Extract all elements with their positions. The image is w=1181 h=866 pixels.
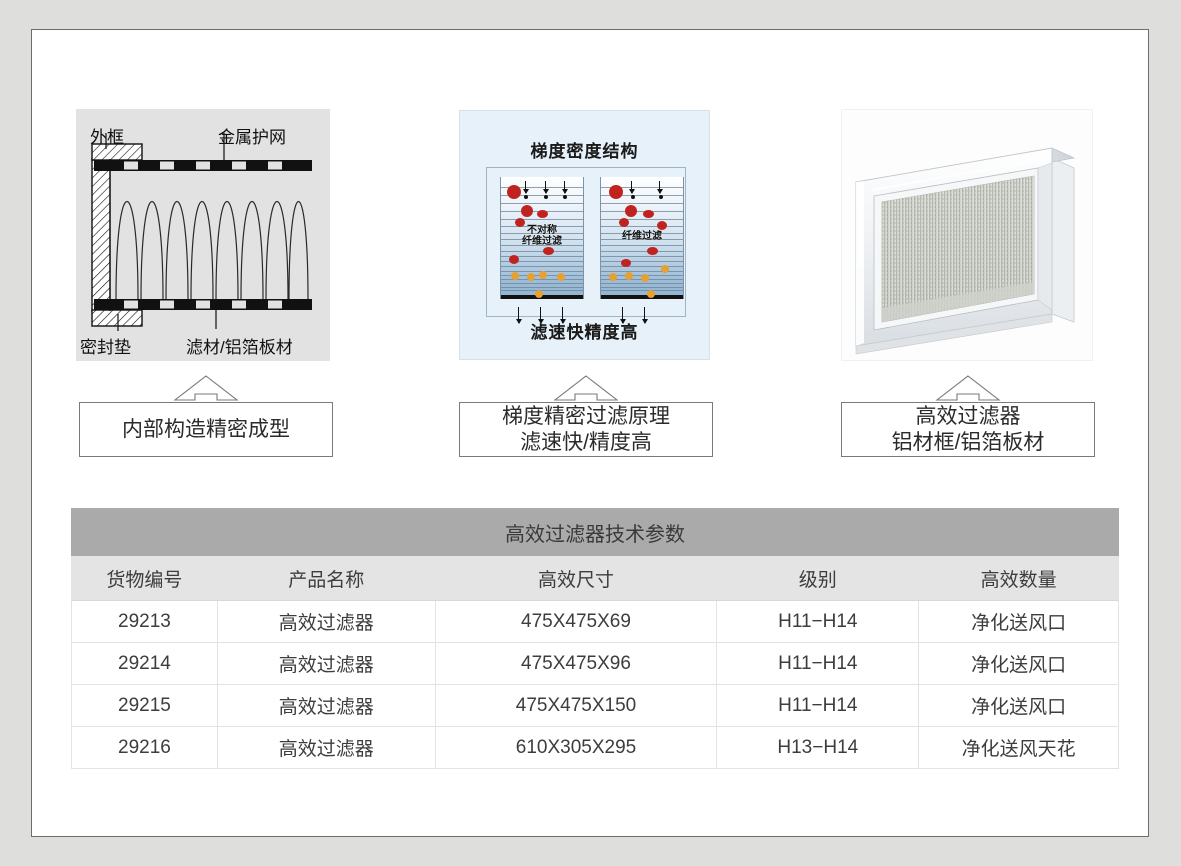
particle-dot [619,218,629,227]
cell-size: 475X475X150 [435,685,717,727]
table-row: 29214 高效过滤器 475X475X96 H11−H14 净化送风口 [72,643,1119,685]
gradient-density-diagram: 梯度密度结构 [459,110,710,360]
cell-code: 29214 [72,643,218,685]
cutaway-diagram: 外框 金属护网 密封垫 滤材/铝箔板材 [76,109,330,361]
cell-product: 高效过滤器 [217,601,435,643]
flow-arrow-icon [659,181,660,193]
caption-text: 高效过滤器 铝材框/铝箔板材 [892,404,1045,456]
cell-size: 475X475X96 [435,643,717,685]
particle-dot [521,205,533,217]
cell-grade: H11−H14 [717,601,919,643]
up-arrow-icon [173,374,239,402]
table-row: 29215 高效过滤器 475X475X150 H11−H14 净化送风口 [72,685,1119,727]
cell-base [601,295,683,299]
particle-dot [524,195,528,199]
particle-dot [609,273,617,281]
particle-dot [609,185,623,199]
cell-quantity: 净化送风口 [919,685,1119,727]
filter-cell-right: 纤维过滤 [600,177,684,299]
page-frame: 外框 金属护网 密封垫 滤材/铝箔板材 梯度密度结构 [0,0,1181,866]
particle-dot [643,210,654,218]
particle-dot [563,195,567,199]
particle-dot [557,273,565,281]
cell-grade: H11−H14 [717,643,919,685]
particle-dot [661,265,669,273]
cell-code: 29216 [72,727,218,769]
cell-code: 29213 [72,601,218,643]
gradient-footer: 滤速快精度高 [460,318,709,343]
cell-size: 475X475X69 [435,601,717,643]
table-row: 29216 高效过滤器 610X305X295 H13−H14 净化送风天花 [72,727,1119,769]
filter-cell-left: 不对称纤维过滤 [500,177,584,299]
table-header-row: 货物编号 产品名称 高效尺寸 级别 高效数量 [72,556,1119,601]
caption-box-material: 高效过滤器 铝材框/铝箔板材 [841,402,1095,457]
product-photo [841,109,1093,361]
up-arrow-icon [553,374,619,402]
panels-row: 外框 金属护网 密封垫 滤材/铝箔板材 梯度密度结构 [32,30,1150,500]
gradient-title: 梯度密度结构 [460,137,709,162]
particle-dot [507,185,521,199]
caption-line-1: 高效过滤器 [916,405,1021,428]
particle-dot [641,274,649,282]
particle-dot [527,273,535,281]
label-metal-guard: 金属护网 [218,123,286,148]
hepa-filter-photo-svg [842,110,1092,360]
cell-quantity: 净化送风天花 [919,727,1119,769]
label-media: 滤材/铝箔板材 [186,333,293,358]
spec-table-wrap: 高效过滤器技术参数 货物编号 产品名称 高效尺寸 级别 高效数量 29213 高… [71,508,1119,769]
caption-line-2: 滤速快/精度高 [520,431,652,454]
particle-dot [647,290,655,298]
caption-box-structure: 内部构造精密成型 [79,402,333,457]
cell-right-text: 纤维过滤 [601,231,683,242]
particle-dot [621,259,631,267]
table-title: 高效过滤器技术参数 [72,509,1119,556]
particle-dot [625,205,637,217]
particle-dot [647,247,658,255]
particle-dot [509,255,519,264]
particle-dot [539,271,547,279]
col-header-grade: 级别 [717,556,919,601]
flow-arrow-icon [631,181,632,193]
col-header-quantity: 高效数量 [919,556,1119,601]
particle-dot [631,195,635,199]
caption-box-principle: 梯度精密过滤原理 滤速快/精度高 [459,402,713,457]
cell-code: 29215 [72,685,218,727]
photo-stage [842,110,1092,360]
page-sheet: 外框 金属护网 密封垫 滤材/铝箔板材 梯度密度结构 [31,29,1149,837]
particle-dot [659,195,663,199]
label-outer-frame: 外框 [90,123,124,148]
spec-table: 高效过滤器技术参数 货物编号 产品名称 高效尺寸 级别 高效数量 29213 高… [71,508,1119,769]
particle-dot [543,247,554,255]
cell-product: 高效过滤器 [217,685,435,727]
table-row: 29213 高效过滤器 475X475X69 H11−H14 净化送风口 [72,601,1119,643]
col-header-code: 货物编号 [72,556,218,601]
table-body: 29213 高效过滤器 475X475X69 H11−H14 净化送风口 292… [72,601,1119,769]
cell-quantity: 净化送风口 [919,601,1119,643]
flow-arrow-icon [545,181,546,193]
cell-left-text: 不对称纤维过滤 [501,225,583,247]
cell-size: 610X305X295 [435,727,717,769]
particle-dot [511,272,519,280]
particle-dot [537,210,548,218]
cell-product: 高效过滤器 [217,643,435,685]
caption-text: 梯度精密过滤原理 滤速快/精度高 [502,404,670,456]
caption-line-1: 梯度精密过滤原理 [502,405,670,428]
cell-grade: H13−H14 [717,727,919,769]
caption-line-2: 铝材框/铝箔板材 [892,431,1045,454]
particle-dot [625,272,633,280]
cell-quantity: 净化送风口 [919,643,1119,685]
up-arrow-icon [935,374,1001,402]
particle-dot [657,221,667,230]
label-gasket: 密封垫 [80,333,131,358]
flow-arrow-icon [525,181,526,193]
cell-grade: H11−H14 [717,685,919,727]
particle-dot [544,195,548,199]
caption-text: 内部构造精密成型 [122,417,290,443]
flow-arrow-icon [564,181,565,193]
table-title-row: 高效过滤器技术参数 [72,509,1119,556]
col-header-product: 产品名称 [217,556,435,601]
particle-dot [535,290,543,298]
col-header-size: 高效尺寸 [435,556,717,601]
cell-product: 高效过滤器 [217,727,435,769]
